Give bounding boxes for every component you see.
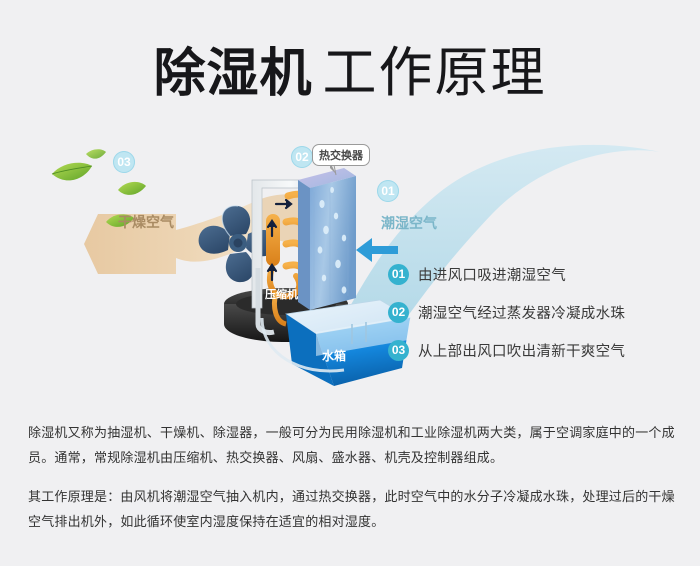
heat-exchanger-block bbox=[298, 168, 356, 310]
list-item: 01 由进风口吸进潮湿空气 bbox=[388, 255, 688, 293]
label-water-tank: 水箱 bbox=[322, 347, 346, 364]
step-badge-02: 02 bbox=[388, 302, 409, 323]
label-humid-air: 潮湿空气 bbox=[381, 213, 437, 233]
label-heat-exchanger: 热交换器 bbox=[312, 144, 370, 166]
infographic-page: 除湿机工作原理 bbox=[0, 0, 700, 566]
paragraph-1: 除湿机又称为抽湿机、干燥机、除湿器，一般可分为民用除湿机和工业除湿机两大类，属于… bbox=[28, 420, 676, 470]
page-title: 除湿机工作原理 bbox=[0, 28, 700, 107]
diagram-badge-01: 01 bbox=[377, 180, 399, 202]
list-item: 02 潮湿空气经过蒸发器冷凝成水珠 bbox=[388, 293, 688, 331]
diagram-badge-02: 02 bbox=[291, 146, 313, 168]
label-dry-air: 干燥空气 bbox=[118, 212, 174, 232]
diagram-badge-03: 03 bbox=[113, 151, 135, 173]
step-badge-01: 01 bbox=[388, 264, 409, 285]
step-badge-03: 03 bbox=[388, 340, 409, 361]
title-primary: 除湿机 bbox=[153, 45, 312, 103]
steps-list: 01 由进风口吸进潮湿空气 02 潮湿空气经过蒸发器冷凝成水珠 03 从上部出风… bbox=[388, 255, 688, 369]
label-compressor: 压缩机 bbox=[265, 286, 298, 302]
body-copy: 除湿机又称为抽湿机、干燥机、除湿器，一般可分为民用除湿机和工业除湿机两大类，属于… bbox=[28, 420, 676, 548]
paragraph-2: 其工作原理是：由风机将潮湿空气抽入机内，通过热交换器，此时空气中的水分子冷凝成水… bbox=[28, 484, 676, 534]
step-text-02: 潮湿空气经过蒸发器冷凝成水珠 bbox=[418, 302, 625, 323]
list-item: 03 从上部出风口吹出清新干爽空气 bbox=[388, 331, 688, 369]
title-secondary: 工作原理 bbox=[323, 43, 547, 103]
step-text-01: 由进风口吸进潮湿空气 bbox=[418, 264, 566, 285]
step-text-03: 从上部出风口吹出清新干爽空气 bbox=[418, 340, 625, 361]
